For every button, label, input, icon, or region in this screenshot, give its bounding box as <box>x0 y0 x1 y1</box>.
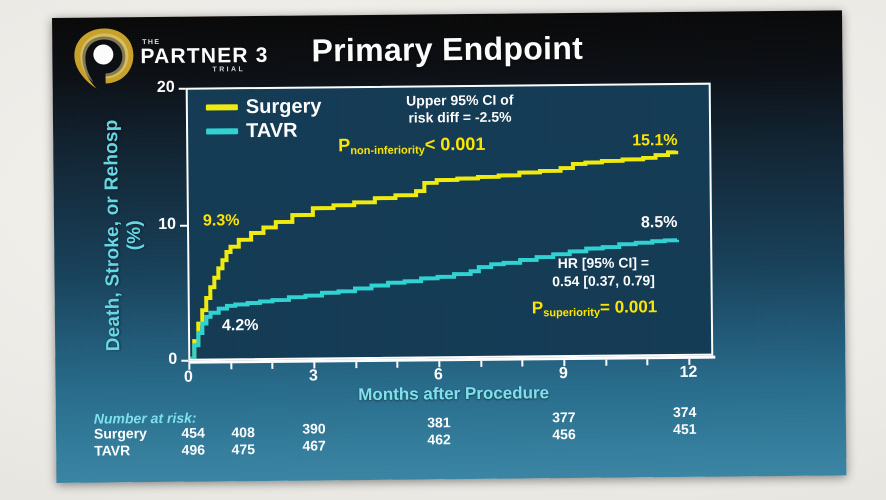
number-at-risk-value: 381 <box>419 414 459 430</box>
number-at-risk-value: 475 <box>223 441 263 457</box>
plot-area: Surgery TAVR Upper 95% CI of risk diff =… <box>186 83 714 361</box>
number-at-risk-row-label: Surgery <box>94 425 147 442</box>
hr-line-1: HR [95% CI] = <box>503 253 703 273</box>
y-axis-label: Death, Stroke, or Rehosp (%) <box>101 105 147 365</box>
number-at-risk-value: 374 <box>665 404 705 420</box>
p-superiority-subscript: superiority <box>543 307 600 320</box>
number-at-risk-value: 456 <box>544 426 584 442</box>
slide-title: Primary Endpoint <box>52 27 842 72</box>
x-tickmark-5 <box>397 362 399 368</box>
legend-label-surgery: Surgery <box>246 95 322 119</box>
number-at-risk-value: 451 <box>665 421 705 437</box>
surgery-endpoint-label: 15.1% <box>632 132 678 150</box>
x-axis-ticks: 036912 <box>52 10 842 18</box>
legend-label-tavr: TAVR <box>246 119 298 142</box>
number-at-risk-value: 496 <box>173 441 213 457</box>
p-non-inferiority-annotation: Pnon-inferiority< 0.001 <box>338 134 485 157</box>
ci-line-2: risk diff = -2.5% <box>360 108 560 127</box>
slide-frame: THE PARTNER 3 TRIAL Primary Endpoint Dea… <box>52 10 846 483</box>
y-tick-0: 0 <box>143 351 177 369</box>
y-tickmark-10 <box>180 225 187 227</box>
legend-swatch-tavr <box>206 128 238 134</box>
photo-background: THE PARTNER 3 TRIAL Primary Endpoint Dea… <box>0 0 886 500</box>
slide: THE PARTNER 3 TRIAL Primary Endpoint Dea… <box>52 10 846 483</box>
y-tick-20: 20 <box>141 79 175 97</box>
number-at-risk-value: 377 <box>544 409 584 425</box>
surgery-30day-label: 9.3% <box>203 212 240 230</box>
legend-item-surgery: Surgery <box>206 94 322 119</box>
number-at-risk-value: 408 <box>223 424 263 440</box>
y-tickmark-0 <box>181 360 188 362</box>
p-superiority-value: = 0.001 <box>600 297 657 317</box>
x-tick-0: 0 <box>173 369 203 387</box>
number-at-risk-table: Surgery454408390381377374TAVR49647546746… <box>52 10 842 18</box>
x-tickmark-8 <box>522 360 524 366</box>
legend-swatch-surgery <box>206 104 238 110</box>
p-superiority-prefix: P <box>532 298 544 317</box>
x-axis-label: Months after Procedure <box>284 383 624 406</box>
ci-line-1: Upper 95% CI of <box>360 91 560 110</box>
x-tickmark-7 <box>480 361 482 367</box>
hr-line-2: 0.54 [0.37, 0.79] <box>503 271 703 291</box>
p-non-inferiority-prefix: P <box>338 135 350 155</box>
p-non-inferiority-subscript: non-inferiority <box>350 144 425 157</box>
y-tickmark-20 <box>179 88 186 90</box>
number-at-risk-value: 467 <box>294 437 334 453</box>
x-tick-12: 12 <box>673 364 703 382</box>
hazard-ratio-annotation: HR [95% CI] = 0.54 [0.37, 0.79] <box>503 253 703 291</box>
number-at-risk-row-label: TAVR <box>94 442 130 458</box>
x-tickmark-4 <box>355 362 357 368</box>
p-superiority-annotation: Psuperiority= 0.001 <box>532 297 658 319</box>
x-tick-9: 9 <box>548 365 578 383</box>
number-at-risk-value: 454 <box>173 424 213 440</box>
number-at-risk-value: 390 <box>294 420 334 436</box>
chart-legend: Surgery TAVR <box>206 94 322 143</box>
p-non-inferiority-value: < 0.001 <box>425 134 486 155</box>
x-tick-3: 3 <box>298 367 328 385</box>
x-tickmark-2 <box>272 363 274 369</box>
tavr-endpoint-label: 8.5% <box>641 214 678 232</box>
number-at-risk-value: 462 <box>419 431 459 447</box>
x-tick-6: 6 <box>423 366 453 384</box>
x-tickmark-1 <box>230 363 232 369</box>
legend-item-tavr: TAVR <box>206 118 322 143</box>
x-tickmark-11 <box>647 359 649 365</box>
x-tickmark-10 <box>605 360 607 366</box>
ci-annotation: Upper 95% CI of risk diff = -2.5% <box>360 91 560 127</box>
tavr-30day-label: 4.2% <box>222 317 259 335</box>
y-tick-10: 10 <box>142 216 176 234</box>
